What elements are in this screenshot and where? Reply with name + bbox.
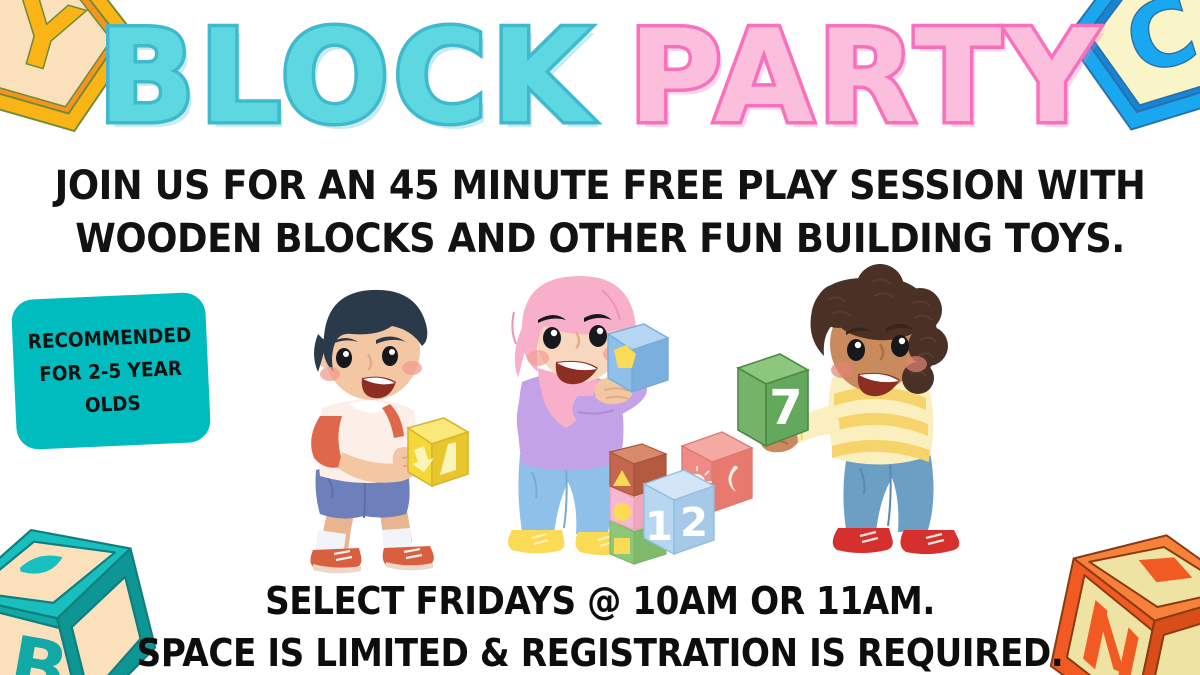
subtitle-line-2: WOODEN BLOCKS AND OTHER FUN BUILDING TOY… [48, 213, 1152, 266]
poster-footer: SELECT FRIDAYS @ 10AM OR 11AM. SPACE IS … [60, 575, 1140, 675]
badge-line-1: RECOMMENDED [27, 322, 191, 353]
poster-subtitle: JOIN US FOR AN 45 MINUTE FREE PLAY SESSI… [48, 160, 1152, 266]
svg-text:7: 7 [769, 380, 802, 436]
age-recommendation-badge: RECOMMENDED FOR 2-5 YEAR OLDS [11, 292, 211, 450]
illustration-girl-with-curly-hair: 7 1 [722, 272, 954, 572]
title-word-party: PARTY [628, 14, 1102, 142]
svg-text:1: 1 [645, 504, 673, 550]
poster-title: BLOCK PARTY [0, 14, 1200, 142]
blue-block-one-two: 1 2 [644, 470, 714, 554]
title-word-block: BLOCK [98, 14, 595, 142]
green-block-seven: 7 [738, 354, 808, 446]
subtitle-line-1: JOIN US FOR AN 45 MINUTE FREE PLAY SESSI… [48, 160, 1152, 213]
footer-line-1: SELECT FRIDAYS @ 10AM OR 11AM. [60, 575, 1140, 627]
svg-text:2: 2 [680, 500, 708, 546]
footer-line-2: SPACE IS LIMITED & REGISTRATION IS REQUI… [60, 627, 1140, 675]
badge-line-3: OLDS [84, 391, 141, 417]
illustration-boy-with-yellow-block [272, 282, 472, 572]
block-party-poster: Y C B [0, 0, 1200, 675]
badge-line-2: FOR 2-5 YEAR [39, 356, 183, 386]
